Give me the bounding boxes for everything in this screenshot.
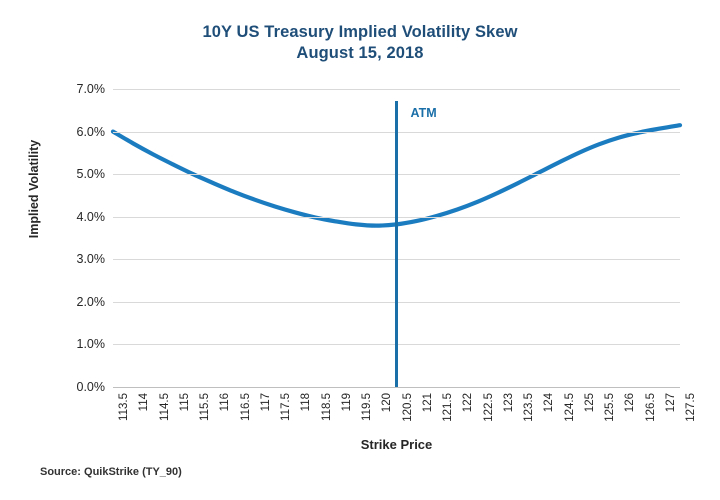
x-axis-tick-label: 116 [219, 393, 231, 411]
y-axis-title: Implied Volatility [27, 109, 41, 269]
y-axis-tick-label: 1.0% [47, 337, 105, 351]
x-axis-tick-label: 114.5 [159, 393, 171, 421]
x-axis-tick-label: 118 [300, 393, 312, 411]
chart-title-line2: August 15, 2018 [0, 43, 720, 64]
x-axis-tick-label: 127.5 [685, 393, 697, 422]
x-axis-tick-label: 121.5 [442, 393, 454, 422]
x-axis-tick-label: 127 [665, 393, 677, 412]
x-axis-tick-label: 115.5 [199, 393, 211, 421]
x-axis-title: Strike Price [113, 437, 680, 452]
x-axis-tick-label: 123 [503, 393, 515, 412]
chart-title-line1: 10Y US Treasury Implied Volatility Skew [202, 23, 517, 41]
gridline [113, 89, 680, 90]
x-axis-tick-label: 114 [138, 393, 150, 411]
x-axis-ticks: 113.5114114.5115115.5116116.5117117.5118… [113, 389, 680, 437]
x-axis-tick-label: 117 [260, 393, 272, 411]
x-axis-tick-label: 113.5 [118, 393, 130, 421]
source-note: Source: QuikStrike (TY_90) [40, 466, 182, 478]
x-axis-tick-label: 119.5 [361, 393, 373, 421]
x-axis-tick-label: 125.5 [604, 393, 616, 422]
y-axis-ticks: 7.0%6.0%5.0%4.0%3.0%2.0%1.0%0.0% [47, 89, 105, 387]
atm-label: ATM [411, 106, 437, 120]
chart-title: 10Y US Treasury Implied Volatility Skew … [0, 22, 720, 64]
x-axis-tick-label: 115 [179, 393, 191, 411]
x-axis-tick-label: 123.5 [523, 393, 535, 422]
gridline [113, 387, 680, 388]
x-axis-tick-label: 125 [584, 393, 596, 412]
x-axis-tick-label: 118.5 [321, 393, 333, 421]
y-axis-tick-label: 3.0% [47, 252, 105, 266]
x-axis-tick-label: 126 [624, 393, 636, 412]
x-axis-tick-label: 122.5 [483, 393, 495, 422]
y-axis-tick-label: 6.0% [47, 125, 105, 139]
x-axis-tick-label: 122 [462, 393, 474, 412]
x-axis-tick-label: 124.5 [564, 393, 576, 422]
x-axis-tick-label: 119 [341, 393, 353, 411]
y-axis-tick-label: 4.0% [47, 210, 105, 224]
x-axis-tick-label: 121 [422, 393, 434, 412]
x-axis-tick-label: 117.5 [280, 393, 292, 421]
x-axis-tick-label: 126.5 [645, 393, 657, 422]
x-axis-tick-label: 120.5 [402, 393, 414, 422]
y-axis-tick-label: 5.0% [47, 167, 105, 181]
x-axis-tick-label: 116.5 [240, 393, 252, 421]
x-axis-tick-label: 124 [543, 393, 555, 412]
x-axis-tick-label: 120 [381, 393, 393, 412]
y-axis-tick-label: 2.0% [47, 295, 105, 309]
chart-container: 10Y US Treasury Implied Volatility Skew … [0, 0, 720, 500]
y-axis-tick-label: 0.0% [47, 380, 105, 394]
y-axis-tick-label: 7.0% [47, 82, 105, 96]
atm-vertical-line [395, 101, 397, 387]
